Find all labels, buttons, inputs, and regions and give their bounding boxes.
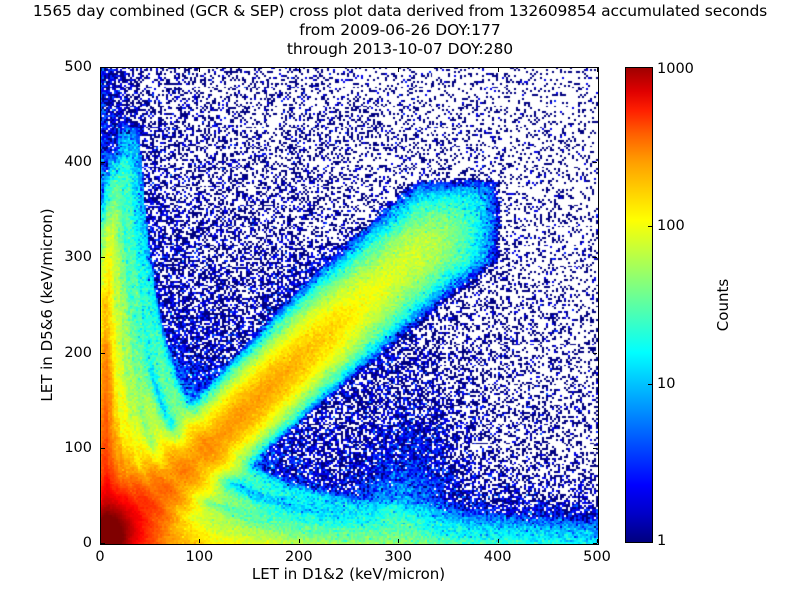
y-tick-mark [593, 543, 597, 544]
y-tick-mark [101, 257, 105, 258]
density-heatmap-canvas [101, 68, 598, 544]
x-tick-mark [398, 68, 399, 72]
x-tick-mark [597, 68, 598, 72]
y-tick-mark [101, 448, 105, 449]
y-tick-mark [593, 353, 597, 354]
x-tick-mark [398, 539, 399, 543]
colorbar-tick-label: 10 [657, 376, 675, 392]
y-tick-mark [101, 543, 105, 544]
x-tick-mark [498, 539, 499, 543]
y-tick-mark [593, 448, 597, 449]
x-tick-label: 400 [484, 549, 512, 565]
x-tick-mark [199, 68, 200, 72]
x-tick-mark [498, 68, 499, 72]
colorbar-tick-label: 1000 [657, 61, 694, 77]
y-tick-mark [593, 67, 597, 68]
x-tick-mark [199, 539, 200, 543]
x-tick-mark [299, 68, 300, 72]
y-tick-mark [101, 353, 105, 354]
title-line-from: from 2009-06-26 DOY:177 [0, 21, 800, 40]
title-line-through: through 2013-10-07 DOY:280 [0, 40, 800, 59]
x-tick-mark [597, 539, 598, 543]
plot-area[interactable] [100, 67, 599, 545]
y-tick-mark [593, 162, 597, 163]
colorbar-tick-label: 100 [657, 218, 685, 234]
y-axis-label: LET in D5&6 (keV/micron) [38, 67, 56, 543]
colorbar-tick-mark [648, 226, 652, 227]
x-tick-label: 500 [583, 549, 611, 565]
x-tick-mark [100, 68, 101, 72]
chart-title: 1565 day combined (GCR & SEP) cross plot… [0, 2, 800, 59]
x-tick-label: 100 [186, 549, 214, 565]
colorbar-label: Counts [714, 67, 732, 543]
colorbar-tick-label: 1 [657, 533, 666, 549]
colorbar-gradient [625, 67, 653, 543]
y-tick-mark [101, 67, 105, 68]
colorbar-tick-mark [648, 384, 652, 385]
x-tick-label: 0 [95, 549, 104, 565]
figure-root: 1565 day combined (GCR & SEP) cross plot… [0, 0, 800, 600]
y-tick-mark [593, 257, 597, 258]
x-tick-label: 200 [285, 549, 313, 565]
x-tick-mark [299, 539, 300, 543]
colorbar[interactable] [625, 67, 653, 543]
x-tick-label: 300 [384, 549, 412, 565]
title-line-main: 1565 day combined (GCR & SEP) cross plot… [0, 2, 800, 21]
y-tick-mark [101, 162, 105, 163]
x-axis-label: LET in D1&2 (keV/micron) [100, 565, 597, 583]
